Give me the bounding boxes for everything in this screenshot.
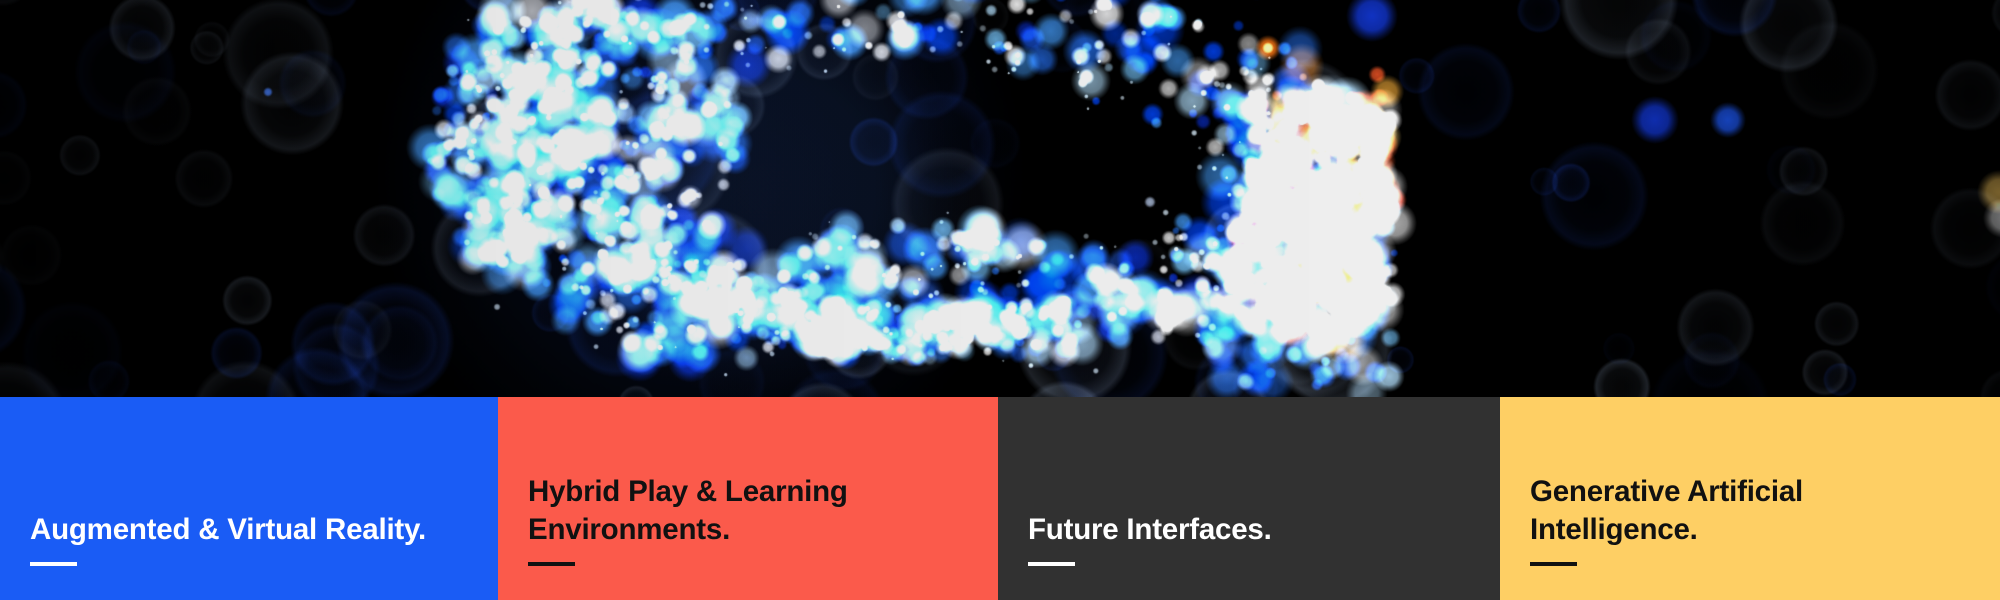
panel-underline-rule: [1028, 562, 1075, 566]
panel-future-interfaces[interactable]: Future Interfaces.: [998, 397, 1500, 600]
panel-underline-rule: [1530, 562, 1577, 566]
panel-underline-rule: [30, 562, 77, 566]
panel-title: Augmented & Virtual Reality.: [30, 511, 450, 548]
panel-title: Generative Artificial Intelligence.: [1530, 473, 1950, 548]
panel-augmented-virtual-reality[interactable]: Augmented & Virtual Reality.: [0, 397, 498, 600]
panel-title: Future Interfaces.: [1028, 511, 1448, 548]
topic-panel-strip: Augmented & Virtual Reality.Hybrid Play …: [0, 397, 2000, 600]
panel-generative-artificial-intelligence[interactable]: Generative Artificial Intelligence.: [1500, 397, 2000, 600]
hero-bokeh-image: [0, 0, 2000, 397]
hero-banner: [0, 0, 2000, 397]
panel-title: Hybrid Play & Learning Environments.: [528, 473, 948, 548]
panel-underline-rule: [528, 562, 575, 566]
page-root: Augmented & Virtual Reality.Hybrid Play …: [0, 0, 2000, 600]
panel-hybrid-play-learning-environments[interactable]: Hybrid Play & Learning Environments.: [498, 397, 998, 600]
